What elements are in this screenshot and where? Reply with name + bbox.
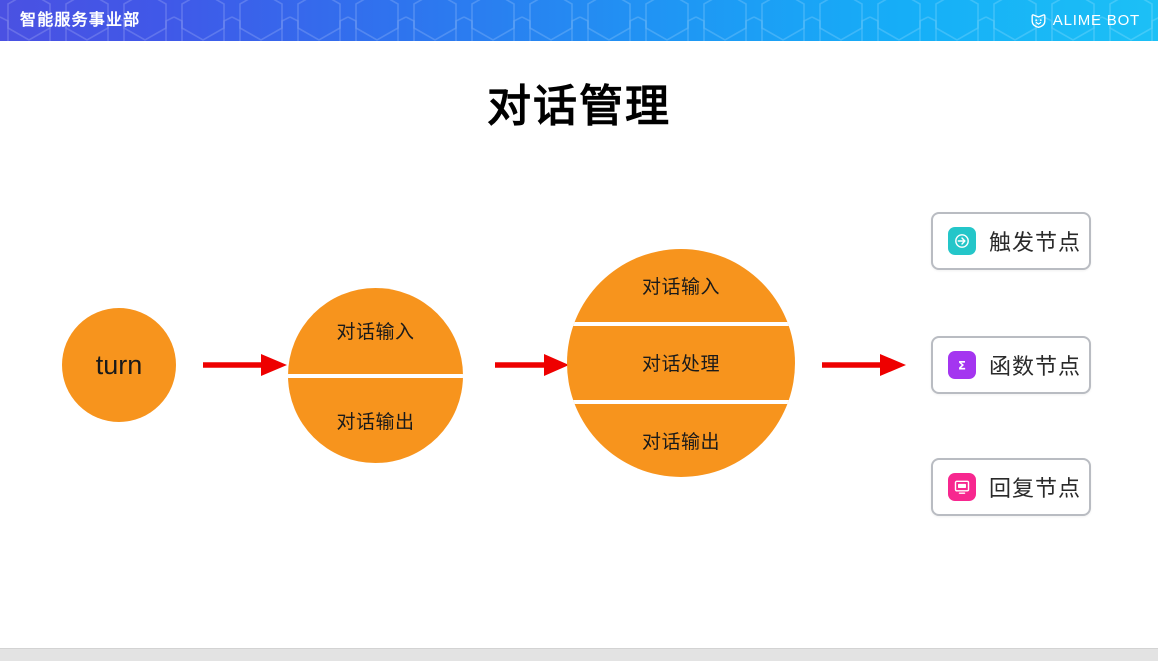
node-segment-label: 对话处理 — [567, 322, 795, 399]
node-card-label: 回复节点 — [989, 471, 1081, 503]
function-sigma-icon: Σ — [948, 351, 976, 379]
node-card-label: 函数节点 — [989, 349, 1081, 381]
node-segment-label: 对话输入 — [567, 249, 795, 322]
reply-screen-icon — [948, 473, 976, 501]
node-segment-label: 对话输入 — [288, 288, 463, 374]
bottom-strip — [0, 648, 1158, 661]
node-card-function[interactable]: Σ 函数节点 — [931, 336, 1091, 394]
node-card-trigger[interactable]: 触发节点 — [931, 212, 1091, 270]
arrow-right-icon — [203, 350, 287, 380]
node-segment-label: 对话输出 — [288, 374, 463, 464]
node-turn-circle: turn — [62, 308, 176, 422]
arrow-right-icon — [495, 350, 569, 380]
node-card-label: 触发节点 — [989, 225, 1081, 257]
node-turn-label: turn — [62, 308, 176, 422]
arrow-right-icon — [822, 350, 906, 380]
dialogue-flow-diagram: turn 对话输入 对话输出 对话输入 对话处理 对话输出 — [0, 0, 1158, 661]
node-dialog-ipo-circle: 对话输入 对话处理 对话输出 — [567, 249, 795, 477]
node-segment-label: 对话输出 — [567, 400, 795, 477]
svg-text:Σ: Σ — [958, 358, 966, 372]
node-dialog-io-circle: 对话输入 对话输出 — [288, 288, 463, 463]
trigger-node-icon — [948, 227, 976, 255]
node-card-reply[interactable]: 回复节点 — [931, 458, 1091, 516]
slide-canvas: 智能服务事业部 ALIME BOT 对话管理 turn 对话输入 对话输出 — [0, 0, 1158, 661]
